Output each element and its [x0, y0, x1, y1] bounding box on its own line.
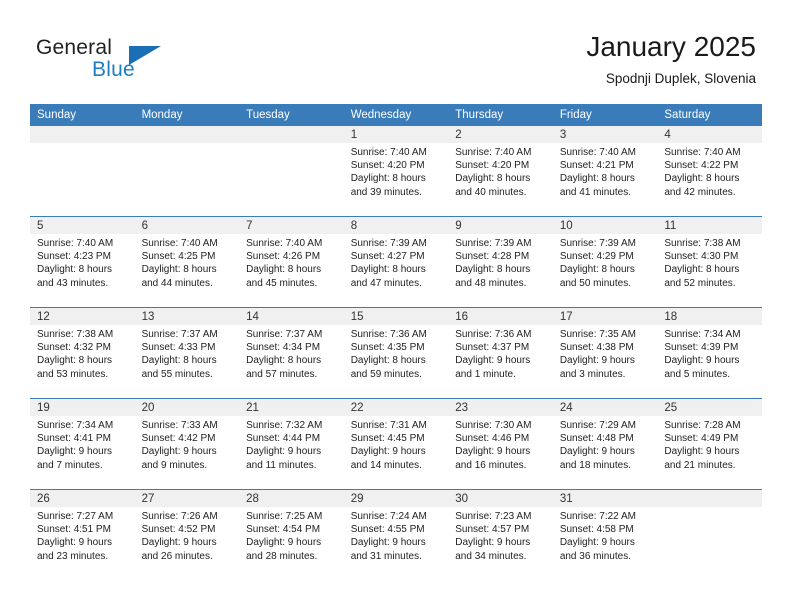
- daylight-text-line2: and 45 minutes.: [246, 277, 340, 290]
- sunset-text: Sunset: 4:48 PM: [560, 432, 654, 445]
- daylight-text-line1: Daylight: 9 hours: [142, 445, 236, 458]
- day-cell-inner: 22Sunrise: 7:31 AMSunset: 4:45 PMDayligh…: [344, 399, 449, 489]
- sunrise-text: Sunrise: 7:33 AM: [142, 419, 236, 432]
- day-details: Sunrise: 7:37 AMSunset: 4:34 PMDaylight:…: [239, 325, 344, 381]
- day-details: Sunrise: 7:28 AMSunset: 4:49 PMDaylight:…: [657, 416, 762, 472]
- daylight-text-line2: and 43 minutes.: [37, 277, 131, 290]
- day-details: Sunrise: 7:33 AMSunset: 4:42 PMDaylight:…: [135, 416, 240, 472]
- weekday-header-friday: Friday: [553, 104, 658, 126]
- sunset-text: Sunset: 4:42 PM: [142, 432, 236, 445]
- sunrise-text: Sunrise: 7:39 AM: [455, 237, 549, 250]
- calendar-day-cell[interactable]: 10Sunrise: 7:39 AMSunset: 4:29 PMDayligh…: [553, 217, 658, 308]
- weekday-header-thursday: Thursday: [448, 104, 553, 126]
- day-number: 8: [344, 217, 449, 234]
- daylight-text-line2: and 39 minutes.: [351, 186, 445, 199]
- day-number: 14: [239, 308, 344, 325]
- day-number: 2: [448, 126, 553, 143]
- daylight-text-line1: Daylight: 9 hours: [351, 445, 445, 458]
- sunset-text: Sunset: 4:27 PM: [351, 250, 445, 263]
- daylight-text-line1: Daylight: 9 hours: [246, 536, 340, 549]
- day-cell-inner: 28Sunrise: 7:25 AMSunset: 4:54 PMDayligh…: [239, 490, 344, 580]
- daylight-text-line1: Daylight: 8 hours: [246, 263, 340, 276]
- daylight-text-line1: Daylight: 9 hours: [37, 445, 131, 458]
- day-cell-inner: [135, 126, 240, 216]
- calendar-day-cell[interactable]: 26Sunrise: 7:27 AMSunset: 4:51 PMDayligh…: [30, 490, 135, 581]
- daylight-text-line1: Daylight: 8 hours: [142, 354, 236, 367]
- sunrise-text: Sunrise: 7:35 AM: [560, 328, 654, 341]
- day-cell-inner: 3Sunrise: 7:40 AMSunset: 4:21 PMDaylight…: [553, 126, 658, 216]
- daylight-text-line2: and 52 minutes.: [664, 277, 758, 290]
- daylight-text-line2: and 5 minutes.: [664, 368, 758, 381]
- calendar-page: General Blue January 2025 Spodnji Duplek…: [0, 0, 792, 612]
- calendar-body: 1Sunrise: 7:40 AMSunset: 4:20 PMDaylight…: [30, 126, 762, 580]
- day-number: 7: [239, 217, 344, 234]
- sunrise-text: Sunrise: 7:39 AM: [560, 237, 654, 250]
- day-number: 24: [553, 399, 658, 416]
- day-number: 21: [239, 399, 344, 416]
- day-number: 30: [448, 490, 553, 507]
- day-cell-inner: 13Sunrise: 7:37 AMSunset: 4:33 PMDayligh…: [135, 308, 240, 398]
- calendar-day-cell[interactable]: 29Sunrise: 7:24 AMSunset: 4:55 PMDayligh…: [344, 490, 449, 581]
- daylight-text-line1: Daylight: 8 hours: [351, 172, 445, 185]
- sunset-text: Sunset: 4:33 PM: [142, 341, 236, 354]
- sunrise-text: Sunrise: 7:37 AM: [246, 328, 340, 341]
- daylight-text-line2: and 26 minutes.: [142, 550, 236, 563]
- sunrise-text: Sunrise: 7:22 AM: [560, 510, 654, 523]
- daylight-text-line2: and 42 minutes.: [664, 186, 758, 199]
- calendar-day-cell[interactable]: 20Sunrise: 7:33 AMSunset: 4:42 PMDayligh…: [135, 399, 240, 490]
- calendar-day-cell[interactable]: 17Sunrise: 7:35 AMSunset: 4:38 PMDayligh…: [553, 308, 658, 399]
- day-number: 10: [553, 217, 658, 234]
- day-cell-inner: 20Sunrise: 7:33 AMSunset: 4:42 PMDayligh…: [135, 399, 240, 489]
- calendar-week-row: 19Sunrise: 7:34 AMSunset: 4:41 PMDayligh…: [30, 399, 762, 490]
- calendar-table: Sunday Monday Tuesday Wednesday Thursday…: [30, 104, 762, 580]
- calendar-day-cell[interactable]: 3Sunrise: 7:40 AMSunset: 4:21 PMDaylight…: [553, 126, 658, 217]
- brand-logo[interactable]: General Blue: [36, 36, 296, 90]
- calendar-day-cell[interactable]: 11Sunrise: 7:38 AMSunset: 4:30 PMDayligh…: [657, 217, 762, 308]
- day-details: Sunrise: 7:36 AMSunset: 4:37 PMDaylight:…: [448, 325, 553, 381]
- sunset-text: Sunset: 4:23 PM: [37, 250, 131, 263]
- day-details: Sunrise: 7:27 AMSunset: 4:51 PMDaylight:…: [30, 507, 135, 563]
- sunrise-text: Sunrise: 7:23 AM: [455, 510, 549, 523]
- calendar-day-cell[interactable]: 4Sunrise: 7:40 AMSunset: 4:22 PMDaylight…: [657, 126, 762, 217]
- weekday-header-monday: Monday: [135, 104, 240, 126]
- day-cell-inner: 10Sunrise: 7:39 AMSunset: 4:29 PMDayligh…: [553, 217, 658, 307]
- day-details: Sunrise: 7:29 AMSunset: 4:48 PMDaylight:…: [553, 416, 658, 472]
- day-cell-inner: 11Sunrise: 7:38 AMSunset: 4:30 PMDayligh…: [657, 217, 762, 307]
- calendar-week-row: 5Sunrise: 7:40 AMSunset: 4:23 PMDaylight…: [30, 217, 762, 308]
- daylight-text-line1: Daylight: 8 hours: [455, 263, 549, 276]
- day-cell-inner: 6Sunrise: 7:40 AMSunset: 4:25 PMDaylight…: [135, 217, 240, 307]
- day-details: Sunrise: 7:31 AMSunset: 4:45 PMDaylight:…: [344, 416, 449, 472]
- day-details: Sunrise: 7:37 AMSunset: 4:33 PMDaylight:…: [135, 325, 240, 381]
- day-number: [657, 490, 762, 507]
- daylight-text-line1: Daylight: 9 hours: [37, 536, 131, 549]
- day-number: 4: [657, 126, 762, 143]
- sunrise-text: Sunrise: 7:31 AM: [351, 419, 445, 432]
- day-details: [239, 143, 344, 146]
- daylight-text-line2: and 28 minutes.: [246, 550, 340, 563]
- weekday-header-row: Sunday Monday Tuesday Wednesday Thursday…: [30, 104, 762, 126]
- daylight-text-line1: Daylight: 8 hours: [560, 172, 654, 185]
- sunrise-text: Sunrise: 7:40 AM: [455, 146, 549, 159]
- day-details: Sunrise: 7:25 AMSunset: 4:54 PMDaylight:…: [239, 507, 344, 563]
- calendar-day-cell[interactable]: 12Sunrise: 7:38 AMSunset: 4:32 PMDayligh…: [30, 308, 135, 399]
- sunset-text: Sunset: 4:52 PM: [142, 523, 236, 536]
- page-header: General Blue January 2025 Spodnji Duplek…: [0, 0, 792, 100]
- daylight-text-line2: and 34 minutes.: [455, 550, 549, 563]
- day-cell-inner: 31Sunrise: 7:22 AMSunset: 4:58 PMDayligh…: [553, 490, 658, 580]
- daylight-text-line2: and 36 minutes.: [560, 550, 654, 563]
- day-details: Sunrise: 7:30 AMSunset: 4:46 PMDaylight:…: [448, 416, 553, 472]
- sunrise-text: Sunrise: 7:27 AM: [37, 510, 131, 523]
- calendar-day-cell[interactable]: 6Sunrise: 7:40 AMSunset: 4:25 PMDaylight…: [135, 217, 240, 308]
- daylight-text-line1: Daylight: 8 hours: [351, 263, 445, 276]
- sunset-text: Sunset: 4:55 PM: [351, 523, 445, 536]
- daylight-text-line1: Daylight: 8 hours: [37, 354, 131, 367]
- daylight-text-line2: and 41 minutes.: [560, 186, 654, 199]
- day-cell-inner: 21Sunrise: 7:32 AMSunset: 4:44 PMDayligh…: [239, 399, 344, 489]
- daylight-text-line2: and 31 minutes.: [351, 550, 445, 563]
- calendar-day-cell[interactable]: 18Sunrise: 7:34 AMSunset: 4:39 PMDayligh…: [657, 308, 762, 399]
- day-number: 28: [239, 490, 344, 507]
- calendar-day-cell[interactable]: 2Sunrise: 7:40 AMSunset: 4:20 PMDaylight…: [448, 126, 553, 217]
- daylight-text-line2: and 16 minutes.: [455, 459, 549, 472]
- calendar-day-cell[interactable]: [657, 490, 762, 581]
- day-cell-inner: 5Sunrise: 7:40 AMSunset: 4:23 PMDaylight…: [30, 217, 135, 307]
- day-details: Sunrise: 7:40 AMSunset: 4:22 PMDaylight:…: [657, 143, 762, 199]
- calendar-day-cell[interactable]: 25Sunrise: 7:28 AMSunset: 4:49 PMDayligh…: [657, 399, 762, 490]
- calendar-day-cell[interactable]: 21Sunrise: 7:32 AMSunset: 4:44 PMDayligh…: [239, 399, 344, 490]
- calendar-day-cell[interactable]: 14Sunrise: 7:37 AMSunset: 4:34 PMDayligh…: [239, 308, 344, 399]
- day-cell-inner: 12Sunrise: 7:38 AMSunset: 4:32 PMDayligh…: [30, 308, 135, 398]
- day-cell-inner: 17Sunrise: 7:35 AMSunset: 4:38 PMDayligh…: [553, 308, 658, 398]
- day-cell-inner: [30, 126, 135, 216]
- page-subtitle: Spodnji Duplek, Slovenia: [586, 69, 756, 89]
- daylight-text-line2: and 1 minute.: [455, 368, 549, 381]
- day-number: 18: [657, 308, 762, 325]
- daylight-text-line1: Daylight: 8 hours: [37, 263, 131, 276]
- day-cell-inner: 26Sunrise: 7:27 AMSunset: 4:51 PMDayligh…: [30, 490, 135, 580]
- weekday-header-tuesday: Tuesday: [239, 104, 344, 126]
- calendar-day-cell[interactable]: 7Sunrise: 7:40 AMSunset: 4:26 PMDaylight…: [239, 217, 344, 308]
- sunrise-text: Sunrise: 7:24 AM: [351, 510, 445, 523]
- sunset-text: Sunset: 4:39 PM: [664, 341, 758, 354]
- daylight-text-line1: Daylight: 9 hours: [246, 445, 340, 458]
- daylight-text-line1: Daylight: 9 hours: [455, 354, 549, 367]
- day-number: 15: [344, 308, 449, 325]
- sunset-text: Sunset: 4:35 PM: [351, 341, 445, 354]
- sunset-text: Sunset: 4:29 PM: [560, 250, 654, 263]
- day-details: Sunrise: 7:35 AMSunset: 4:38 PMDaylight:…: [553, 325, 658, 381]
- calendar-day-cell[interactable]: 24Sunrise: 7:29 AMSunset: 4:48 PMDayligh…: [553, 399, 658, 490]
- sunrise-text: Sunrise: 7:30 AM: [455, 419, 549, 432]
- day-details: Sunrise: 7:38 AMSunset: 4:30 PMDaylight:…: [657, 234, 762, 290]
- sunset-text: Sunset: 4:51 PM: [37, 523, 131, 536]
- calendar-day-cell[interactable]: 22Sunrise: 7:31 AMSunset: 4:45 PMDayligh…: [344, 399, 449, 490]
- day-cell-inner: 30Sunrise: 7:23 AMSunset: 4:57 PMDayligh…: [448, 490, 553, 580]
- sunrise-text: Sunrise: 7:25 AM: [246, 510, 340, 523]
- sunrise-text: Sunrise: 7:40 AM: [37, 237, 131, 250]
- daylight-text-line1: Daylight: 9 hours: [664, 445, 758, 458]
- daylight-text-line2: and 9 minutes.: [142, 459, 236, 472]
- sunrise-text: Sunrise: 7:37 AM: [142, 328, 236, 341]
- day-cell-inner: 9Sunrise: 7:39 AMSunset: 4:28 PMDaylight…: [448, 217, 553, 307]
- daylight-text-line1: Daylight: 8 hours: [246, 354, 340, 367]
- daylight-text-line2: and 44 minutes.: [142, 277, 236, 290]
- calendar-day-cell[interactable]: 27Sunrise: 7:26 AMSunset: 4:52 PMDayligh…: [135, 490, 240, 581]
- day-details: Sunrise: 7:24 AMSunset: 4:55 PMDaylight:…: [344, 507, 449, 563]
- calendar-day-cell[interactable]: [239, 126, 344, 217]
- calendar-day-cell[interactable]: 30Sunrise: 7:23 AMSunset: 4:57 PMDayligh…: [448, 490, 553, 581]
- daylight-text-line2: and 57 minutes.: [246, 368, 340, 381]
- daylight-text-line1: Daylight: 9 hours: [560, 445, 654, 458]
- calendar-day-cell[interactable]: [30, 126, 135, 217]
- daylight-text-line1: Daylight: 9 hours: [455, 536, 549, 549]
- sunrise-text: Sunrise: 7:38 AM: [664, 237, 758, 250]
- day-number: [135, 126, 240, 143]
- day-number: 6: [135, 217, 240, 234]
- day-details: Sunrise: 7:32 AMSunset: 4:44 PMDaylight:…: [239, 416, 344, 472]
- day-details: Sunrise: 7:40 AMSunset: 4:26 PMDaylight:…: [239, 234, 344, 290]
- title-block: January 2025 Spodnji Duplek, Slovenia: [586, 30, 756, 89]
- day-number: [30, 126, 135, 143]
- sunset-text: Sunset: 4:45 PM: [351, 432, 445, 445]
- sunset-text: Sunset: 4:34 PM: [246, 341, 340, 354]
- day-cell-inner: 2Sunrise: 7:40 AMSunset: 4:20 PMDaylight…: [448, 126, 553, 216]
- daylight-text-line1: Daylight: 8 hours: [560, 263, 654, 276]
- day-number: 25: [657, 399, 762, 416]
- day-cell-inner: [657, 490, 762, 580]
- day-number: 23: [448, 399, 553, 416]
- day-cell-inner: 23Sunrise: 7:30 AMSunset: 4:46 PMDayligh…: [448, 399, 553, 489]
- daylight-text-line1: Daylight: 9 hours: [664, 354, 758, 367]
- sunset-text: Sunset: 4:21 PM: [560, 159, 654, 172]
- calendar-day-cell[interactable]: 9Sunrise: 7:39 AMSunset: 4:28 PMDaylight…: [448, 217, 553, 308]
- day-number: 22: [344, 399, 449, 416]
- day-details: Sunrise: 7:34 AMSunset: 4:39 PMDaylight:…: [657, 325, 762, 381]
- calendar-day-cell[interactable]: 19Sunrise: 7:34 AMSunset: 4:41 PMDayligh…: [30, 399, 135, 490]
- day-cell-inner: 8Sunrise: 7:39 AMSunset: 4:27 PMDaylight…: [344, 217, 449, 307]
- daylight-text-line2: and 50 minutes.: [560, 277, 654, 290]
- day-number: 11: [657, 217, 762, 234]
- sunset-text: Sunset: 4:25 PM: [142, 250, 236, 263]
- brand-name-blue: Blue: [92, 58, 135, 82]
- day-cell-inner: 16Sunrise: 7:36 AMSunset: 4:37 PMDayligh…: [448, 308, 553, 398]
- daylight-text-line1: Daylight: 9 hours: [351, 536, 445, 549]
- calendar-week-row: 26Sunrise: 7:27 AMSunset: 4:51 PMDayligh…: [30, 490, 762, 581]
- sunrise-text: Sunrise: 7:40 AM: [142, 237, 236, 250]
- day-details: Sunrise: 7:40 AMSunset: 4:21 PMDaylight:…: [553, 143, 658, 199]
- daylight-text-line1: Daylight: 9 hours: [455, 445, 549, 458]
- daylight-text-line2: and 11 minutes.: [246, 459, 340, 472]
- day-number: 31: [553, 490, 658, 507]
- sunrise-text: Sunrise: 7:26 AM: [142, 510, 236, 523]
- sunset-text: Sunset: 4:44 PM: [246, 432, 340, 445]
- day-cell-inner: 18Sunrise: 7:34 AMSunset: 4:39 PMDayligh…: [657, 308, 762, 398]
- weekday-header-wednesday: Wednesday: [344, 104, 449, 126]
- daylight-text-line2: and 14 minutes.: [351, 459, 445, 472]
- day-number: 12: [30, 308, 135, 325]
- day-cell-inner: 25Sunrise: 7:28 AMSunset: 4:49 PMDayligh…: [657, 399, 762, 489]
- sunset-text: Sunset: 4:38 PM: [560, 341, 654, 354]
- day-number: 3: [553, 126, 658, 143]
- day-cell-inner: 4Sunrise: 7:40 AMSunset: 4:22 PMDaylight…: [657, 126, 762, 216]
- day-cell-inner: 27Sunrise: 7:26 AMSunset: 4:52 PMDayligh…: [135, 490, 240, 580]
- day-details: Sunrise: 7:39 AMSunset: 4:27 PMDaylight:…: [344, 234, 449, 290]
- sunrise-text: Sunrise: 7:40 AM: [351, 146, 445, 159]
- sunset-text: Sunset: 4:41 PM: [37, 432, 131, 445]
- sunrise-text: Sunrise: 7:34 AM: [37, 419, 131, 432]
- sunrise-text: Sunrise: 7:40 AM: [560, 146, 654, 159]
- day-cell-inner: 15Sunrise: 7:36 AMSunset: 4:35 PMDayligh…: [344, 308, 449, 398]
- daylight-text-line2: and 18 minutes.: [560, 459, 654, 472]
- day-details: [657, 507, 762, 510]
- daylight-text-line1: Daylight: 9 hours: [560, 354, 654, 367]
- calendar-week-row: 12Sunrise: 7:38 AMSunset: 4:32 PMDayligh…: [30, 308, 762, 399]
- day-details: Sunrise: 7:39 AMSunset: 4:28 PMDaylight:…: [448, 234, 553, 290]
- day-number: 19: [30, 399, 135, 416]
- daylight-text-line1: Daylight: 8 hours: [664, 172, 758, 185]
- day-details: [135, 143, 240, 146]
- sunrise-text: Sunrise: 7:40 AM: [246, 237, 340, 250]
- day-details: Sunrise: 7:34 AMSunset: 4:41 PMDaylight:…: [30, 416, 135, 472]
- daylight-text-line1: Daylight: 8 hours: [142, 263, 236, 276]
- sunrise-text: Sunrise: 7:36 AM: [455, 328, 549, 341]
- sunset-text: Sunset: 4:54 PM: [246, 523, 340, 536]
- calendar-day-cell[interactable]: 1Sunrise: 7:40 AMSunset: 4:20 PMDaylight…: [344, 126, 449, 217]
- calendar-day-cell[interactable]: [135, 126, 240, 217]
- day-cell-inner: [239, 126, 344, 216]
- brand-name-general: General: [36, 36, 112, 60]
- sunset-text: Sunset: 4:57 PM: [455, 523, 549, 536]
- day-number: 26: [30, 490, 135, 507]
- daylight-text-line1: Daylight: 9 hours: [142, 536, 236, 549]
- day-number: [239, 126, 344, 143]
- day-number: 9: [448, 217, 553, 234]
- daylight-text-line2: and 23 minutes.: [37, 550, 131, 563]
- day-details: Sunrise: 7:40 AMSunset: 4:25 PMDaylight:…: [135, 234, 240, 290]
- day-details: Sunrise: 7:36 AMSunset: 4:35 PMDaylight:…: [344, 325, 449, 381]
- day-cell-inner: 14Sunrise: 7:37 AMSunset: 4:34 PMDayligh…: [239, 308, 344, 398]
- day-number: 16: [448, 308, 553, 325]
- calendar-day-cell[interactable]: 15Sunrise: 7:36 AMSunset: 4:35 PMDayligh…: [344, 308, 449, 399]
- sunrise-text: Sunrise: 7:40 AM: [664, 146, 758, 159]
- calendar-day-cell[interactable]: 13Sunrise: 7:37 AMSunset: 4:33 PMDayligh…: [135, 308, 240, 399]
- calendar-day-cell[interactable]: 31Sunrise: 7:22 AMSunset: 4:58 PMDayligh…: [553, 490, 658, 581]
- day-cell-inner: 24Sunrise: 7:29 AMSunset: 4:48 PMDayligh…: [553, 399, 658, 489]
- day-details: Sunrise: 7:40 AMSunset: 4:20 PMDaylight:…: [448, 143, 553, 199]
- daylight-text-line2: and 59 minutes.: [351, 368, 445, 381]
- daylight-text-line2: and 48 minutes.: [455, 277, 549, 290]
- daylight-text-line2: and 7 minutes.: [37, 459, 131, 472]
- day-cell-inner: 7Sunrise: 7:40 AMSunset: 4:26 PMDaylight…: [239, 217, 344, 307]
- sunrise-text: Sunrise: 7:32 AM: [246, 419, 340, 432]
- day-number: 1: [344, 126, 449, 143]
- sunrise-text: Sunrise: 7:38 AM: [37, 328, 131, 341]
- sunset-text: Sunset: 4:58 PM: [560, 523, 654, 536]
- day-details: Sunrise: 7:23 AMSunset: 4:57 PMDaylight:…: [448, 507, 553, 563]
- day-details: Sunrise: 7:22 AMSunset: 4:58 PMDaylight:…: [553, 507, 658, 563]
- day-details: Sunrise: 7:40 AMSunset: 4:20 PMDaylight:…: [344, 143, 449, 199]
- sunrise-text: Sunrise: 7:34 AM: [664, 328, 758, 341]
- weekday-header-sunday: Sunday: [30, 104, 135, 126]
- day-details: Sunrise: 7:26 AMSunset: 4:52 PMDaylight:…: [135, 507, 240, 563]
- daylight-text-line2: and 3 minutes.: [560, 368, 654, 381]
- calendar-day-cell[interactable]: 16Sunrise: 7:36 AMSunset: 4:37 PMDayligh…: [448, 308, 553, 399]
- calendar-day-cell[interactable]: 23Sunrise: 7:30 AMSunset: 4:46 PMDayligh…: [448, 399, 553, 490]
- day-number: 13: [135, 308, 240, 325]
- day-cell-inner: 1Sunrise: 7:40 AMSunset: 4:20 PMDaylight…: [344, 126, 449, 216]
- day-number: 20: [135, 399, 240, 416]
- daylight-text-line1: Daylight: 8 hours: [455, 172, 549, 185]
- day-details: Sunrise: 7:38 AMSunset: 4:32 PMDaylight:…: [30, 325, 135, 381]
- day-number: 29: [344, 490, 449, 507]
- sunrise-text: Sunrise: 7:28 AM: [664, 419, 758, 432]
- sunset-text: Sunset: 4:46 PM: [455, 432, 549, 445]
- daylight-text-line2: and 55 minutes.: [142, 368, 236, 381]
- daylight-text-line1: Daylight: 8 hours: [351, 354, 445, 367]
- day-number: 5: [30, 217, 135, 234]
- day-number: 17: [553, 308, 658, 325]
- sunrise-text: Sunrise: 7:29 AM: [560, 419, 654, 432]
- sunset-text: Sunset: 4:20 PM: [351, 159, 445, 172]
- sunset-text: Sunset: 4:32 PM: [37, 341, 131, 354]
- sunrise-text: Sunrise: 7:39 AM: [351, 237, 445, 250]
- sunset-text: Sunset: 4:30 PM: [664, 250, 758, 263]
- day-number: 27: [135, 490, 240, 507]
- calendar-day-cell[interactable]: 8Sunrise: 7:39 AMSunset: 4:27 PMDaylight…: [344, 217, 449, 308]
- day-cell-inner: 19Sunrise: 7:34 AMSunset: 4:41 PMDayligh…: [30, 399, 135, 489]
- day-details: [30, 143, 135, 146]
- daylight-text-line2: and 21 minutes.: [664, 459, 758, 472]
- sunset-text: Sunset: 4:26 PM: [246, 250, 340, 263]
- sunset-text: Sunset: 4:28 PM: [455, 250, 549, 263]
- day-details: Sunrise: 7:40 AMSunset: 4:23 PMDaylight:…: [30, 234, 135, 290]
- sunset-text: Sunset: 4:49 PM: [664, 432, 758, 445]
- sunset-text: Sunset: 4:22 PM: [664, 159, 758, 172]
- daylight-text-line1: Daylight: 8 hours: [664, 263, 758, 276]
- weekday-header-saturday: Saturday: [657, 104, 762, 126]
- calendar-week-row: 1Sunrise: 7:40 AMSunset: 4:20 PMDaylight…: [30, 126, 762, 217]
- daylight-text-line2: and 47 minutes.: [351, 277, 445, 290]
- daylight-text-line1: Daylight: 9 hours: [560, 536, 654, 549]
- daylight-text-line2: and 40 minutes.: [455, 186, 549, 199]
- sunset-text: Sunset: 4:20 PM: [455, 159, 549, 172]
- day-details: Sunrise: 7:39 AMSunset: 4:29 PMDaylight:…: [553, 234, 658, 290]
- day-cell-inner: 29Sunrise: 7:24 AMSunset: 4:55 PMDayligh…: [344, 490, 449, 580]
- sunrise-text: Sunrise: 7:36 AM: [351, 328, 445, 341]
- calendar-day-cell[interactable]: 28Sunrise: 7:25 AMSunset: 4:54 PMDayligh…: [239, 490, 344, 581]
- page-title: January 2025: [586, 30, 756, 64]
- calendar-day-cell[interactable]: 5Sunrise: 7:40 AMSunset: 4:23 PMDaylight…: [30, 217, 135, 308]
- sunset-text: Sunset: 4:37 PM: [455, 341, 549, 354]
- daylight-text-line2: and 53 minutes.: [37, 368, 131, 381]
